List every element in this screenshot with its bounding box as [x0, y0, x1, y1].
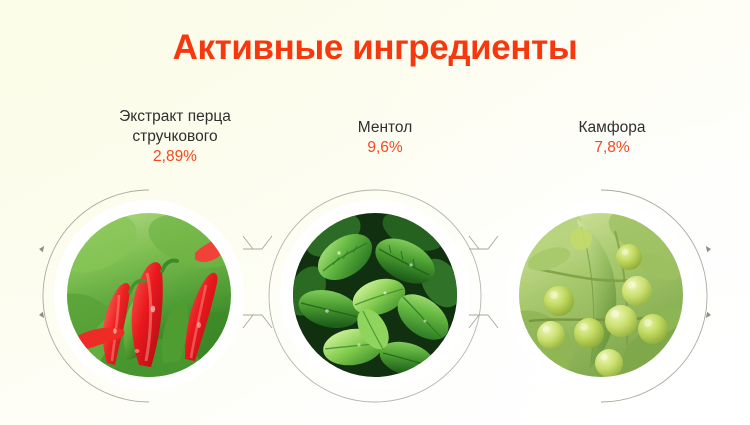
ingredient-name-1-line2: стручкового — [55, 127, 295, 147]
arrow-down-right-icon — [706, 246, 711, 252]
ingredient-percent-3: 7,8% — [512, 138, 712, 158]
connector-bottom-2-3-hook — [469, 315, 479, 328]
connector-bottom-1-2-hook — [243, 315, 253, 328]
chili-pepper-circle-image — [67, 213, 231, 377]
ingredient-name-1-line1: Экстракт перца — [55, 107, 295, 127]
camphor-circle-image — [519, 213, 683, 377]
ingredient-name-3-line1: Камфора — [512, 118, 712, 138]
ingredient-percent-2: 9,6% — [285, 138, 485, 158]
mint-circle-image — [293, 213, 457, 377]
arrow-up-right-icon — [706, 312, 711, 318]
arrow-up-left-icon — [39, 312, 44, 318]
connector-top-1-2 — [243, 236, 272, 249]
connector-top-1-2-hook — [243, 236, 253, 249]
connector-bottom-1-2 — [243, 315, 272, 328]
connector-top-2-3-hook — [469, 236, 479, 249]
ingredient-percent-1: 2,89% — [55, 147, 295, 167]
page-title: Активные ингредиенты — [0, 28, 750, 68]
ingredient-label-3: Камфора 7,8% — [512, 118, 712, 158]
ingredient-name-2-line1: Ментол — [285, 118, 485, 138]
ingredient-label-2: Ментол 9,6% — [285, 118, 485, 158]
arrow-down-left-icon — [39, 246, 44, 252]
ingredient-label-1: Экстракт перца стручкового 2,89% — [55, 107, 295, 167]
slide-canvas: Активные ингредиенты Экстракт перца стру… — [0, 0, 750, 425]
connector-top-2-3 — [469, 236, 498, 249]
connector-bottom-2-3 — [469, 315, 498, 328]
